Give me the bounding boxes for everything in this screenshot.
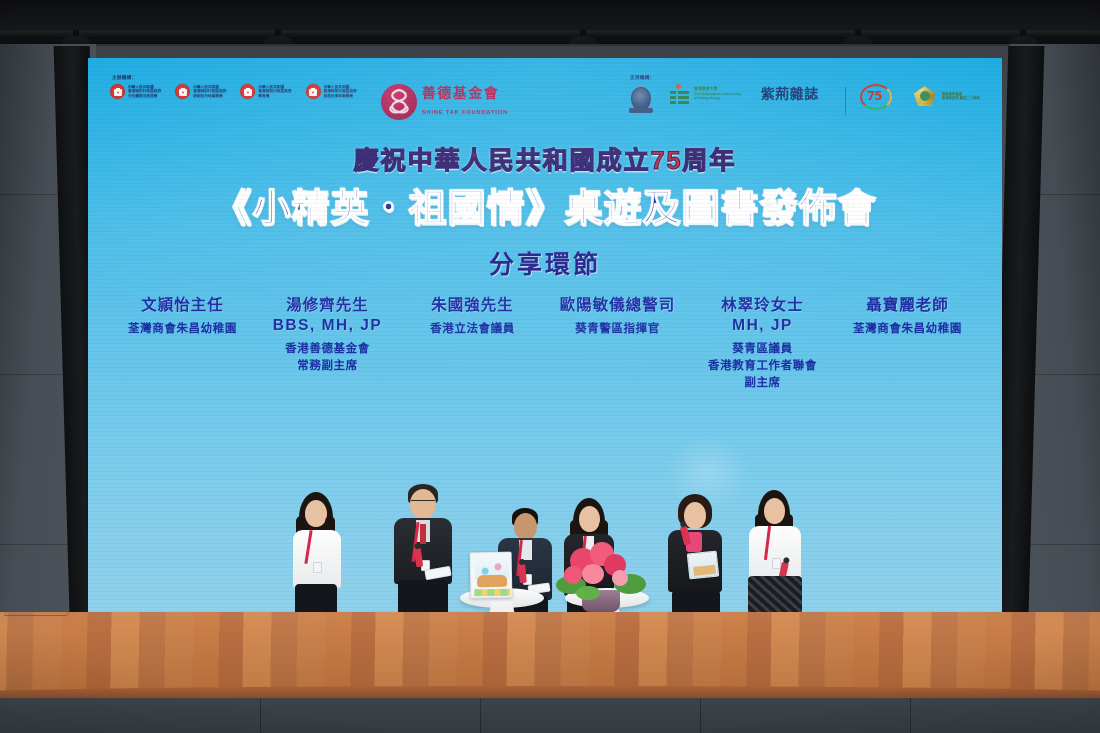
speaker-role: 香港善德基金會 常務副主席 (255, 341, 400, 376)
logo-line: 香港特別行政區政府 (324, 89, 357, 93)
shine-tak-mark-icon (381, 84, 417, 120)
logo-line: 香港特別行政區政府 (258, 89, 291, 93)
speaker-role-line: 葵青警區指揮官 (545, 321, 690, 338)
speaker-name: 文頴怡主任 (110, 296, 255, 316)
logo-line: 中華人民共和國 (324, 85, 350, 89)
bauhinia-emblem-icon (175, 84, 190, 99)
speaker-role: 荃灣商會朱昌幼稚園 (110, 321, 255, 338)
session-title: 分享環節 (88, 245, 1002, 281)
speaker-role-line: 香港教育工作者聯會 (690, 358, 835, 375)
organizer-label: 主辦機構： (112, 75, 136, 81)
event-main-title: 《小精英・祖國情》桌遊及圖書發佈會 (88, 187, 1002, 233)
stage-floor (0, 612, 1100, 733)
hksar-logo: 中華人民共和國 香港特別行政區政府 教育局 (240, 84, 291, 99)
stage-skirt (0, 698, 1100, 733)
bauhinia-emblem-icon (240, 84, 255, 99)
speaker-role-line: 荃灣商會朱昌幼稚園 (835, 321, 980, 338)
eduhk-name-en2: of Hong Kong (694, 95, 720, 100)
eduhk-mark-icon (670, 84, 690, 104)
celebration-headline: 慶祝中華人民共和國成立75周年 (88, 146, 1002, 177)
speaker-card: 朱國強先生 香港立法會議員 (400, 296, 545, 338)
title-block: 慶祝中華人民共和國成立75周年 《小精英・祖國情》桌遊及圖書發佈會 分享環節 (88, 146, 1002, 281)
shine-tak-foundation-logo: 善德基金會 SHINE TAK FOUNDATION (381, 84, 508, 120)
hksar-logo-text: 中華人民共和國 香港特別行政區政府 民政及青年事務局 (324, 85, 357, 99)
speaker-role: 葵青區議員 香港教育工作者聯會 副主席 (690, 341, 835, 393)
ceiling (0, 0, 1100, 46)
hong-kong-police-force-logo-icon (628, 84, 654, 114)
speaker-role-line: 荃灣商會朱昌幼稚園 (110, 321, 255, 338)
speaker-card: 林翠玲女士 MH, JP 葵青區議員 香港教育工作者聯會 副主席 (690, 296, 835, 393)
speaker-role: 荃灣商會朱昌幼稚園 (835, 321, 980, 338)
logo-line: 中華人民共和國 (258, 85, 284, 89)
speaker-honours: BBS, MH, JP (255, 316, 400, 336)
event-photograph: 主辦機構： 中華人民共和國 香港特別行政區政府 文化體育及旅遊局 中華人民共和國… (0, 0, 1100, 733)
floor-access-panel (3, 612, 76, 616)
anniversary-number: 75 (867, 89, 882, 103)
hksar-logo: 中華人民共和國 香港特別行政區政府 政制及內地事務局 (175, 84, 226, 99)
speaker-name: 湯修齊先生 (255, 296, 400, 316)
logo-line: 政制及內地事務局 (193, 94, 223, 98)
lighting-rail (0, 30, 1100, 39)
foundation-name-cn: 善德基金會 (422, 85, 500, 101)
logo-divider (845, 87, 846, 115)
speaker-card: 聶寶麗老師 荃灣商會朱昌幼稚園 (835, 296, 980, 338)
logo-line: 文化體育及旅遊局 (128, 94, 158, 98)
logo-line: 民政及青年事務局 (324, 94, 354, 98)
eduhk-wordmark: 香港教育大學 The Education University of Hong … (694, 87, 741, 101)
speaker-card: 文頴怡主任 荃灣商會朱昌幼稚園 (110, 296, 255, 338)
published-book (687, 551, 720, 580)
gold-partner-caption: 香港教育界 慶祝二十周年 (942, 96, 980, 100)
speaker-name: 聶寶麗老師 (835, 296, 980, 316)
speaker-honours: MH, JP (690, 316, 835, 336)
speaker-name: 歐陽敏儀總警司 (545, 296, 690, 316)
gold-partner-logo: 香港青年協會 香港教育界 慶祝二十周年 (912, 84, 980, 108)
speaker-card: 湯修齊先生 BBS, MH, JP 香港善德基金會 常務副主席 (255, 296, 400, 375)
speaker-role-line: 常務副主席 (255, 358, 400, 375)
hksar-logo-text: 中華人民共和國 香港特別行政區政府 教育局 (258, 85, 291, 99)
speaker-name: 朱國強先生 (400, 296, 545, 316)
speaker-name: 林翠玲女士 (690, 296, 835, 316)
speaker-role-line: 香港善德基金會 (255, 341, 400, 358)
foundation-name-en: SHINE TAK FOUNDATION (422, 110, 508, 116)
shine-tak-wordmark: 善德基金會 SHINE TAK FOUNDATION (422, 86, 508, 118)
gold-partner-wordmark: 香港青年協會 香港教育界 慶祝二十周年 (942, 92, 980, 100)
supporter-label: 支持機構： (630, 75, 654, 81)
gold-partner-mark-icon (912, 84, 938, 108)
logo-bar: 主辦機構： 中華人民共和國 香港特別行政區政府 文化體育及旅遊局 中華人民共和國… (88, 84, 1002, 142)
knot-glyph-icon (386, 88, 412, 116)
anniversary-75-emblem-icon: 75 (858, 84, 896, 118)
organizer-logo-group: 主辦機構： 中華人民共和國 香港特別行政區政府 文化體育及旅遊局 中華人民共和國… (110, 84, 371, 99)
speaker-role: 香港立法會議員 (400, 321, 545, 338)
speaker-role-line: 香港立法會議員 (400, 321, 545, 338)
speaker-role: 葵青警區指揮官 (545, 321, 690, 338)
hksar-logo-text: 中華人民共和國 香港特別行政區政府 文化體育及旅遊局 (128, 85, 161, 99)
speaker-card: 歐陽敏儀總警司 葵青警區指揮官 (545, 296, 690, 338)
logo-line: 中華人民共和國 (128, 85, 154, 89)
hksar-logo: 中華人民共和國 香港特別行政區政府 民政及青年事務局 (306, 84, 357, 99)
supporter-logo-group: 支持機構： 香港教育大學 (628, 84, 980, 118)
speaker-list: 文頴怡主任 荃灣商會朱昌幼稚園 湯修齊先生 BBS, MH, JP 香港善德基金… (88, 296, 1002, 393)
speaker-role-line: 葵青區議員 (690, 341, 835, 358)
education-university-of-hong-kong-logo: 香港教育大學 The Education University of Hong … (670, 84, 741, 104)
logo-line: 香港特別行政區政府 (193, 89, 226, 93)
logo-line: 教育局 (258, 94, 269, 98)
hksar-logo: 中華人民共和國 香港特別行政區政府 文化體育及旅遊局 (110, 84, 161, 99)
bauhinia-emblem-icon (306, 84, 321, 99)
bauhinia-emblem-icon (110, 84, 125, 99)
display-book (470, 552, 513, 599)
logo-line: 香港特別行政區政府 (128, 89, 161, 93)
speaker-role-line: 副主席 (690, 375, 835, 392)
hksar-logo-text: 中華人民共和國 香港特別行政區政府 政制及內地事務局 (193, 85, 226, 99)
flower-arrangement (552, 540, 648, 612)
magazine-logo: 紫荊雜誌 (761, 84, 819, 104)
logo-line: 中華人民共和國 (193, 85, 219, 89)
